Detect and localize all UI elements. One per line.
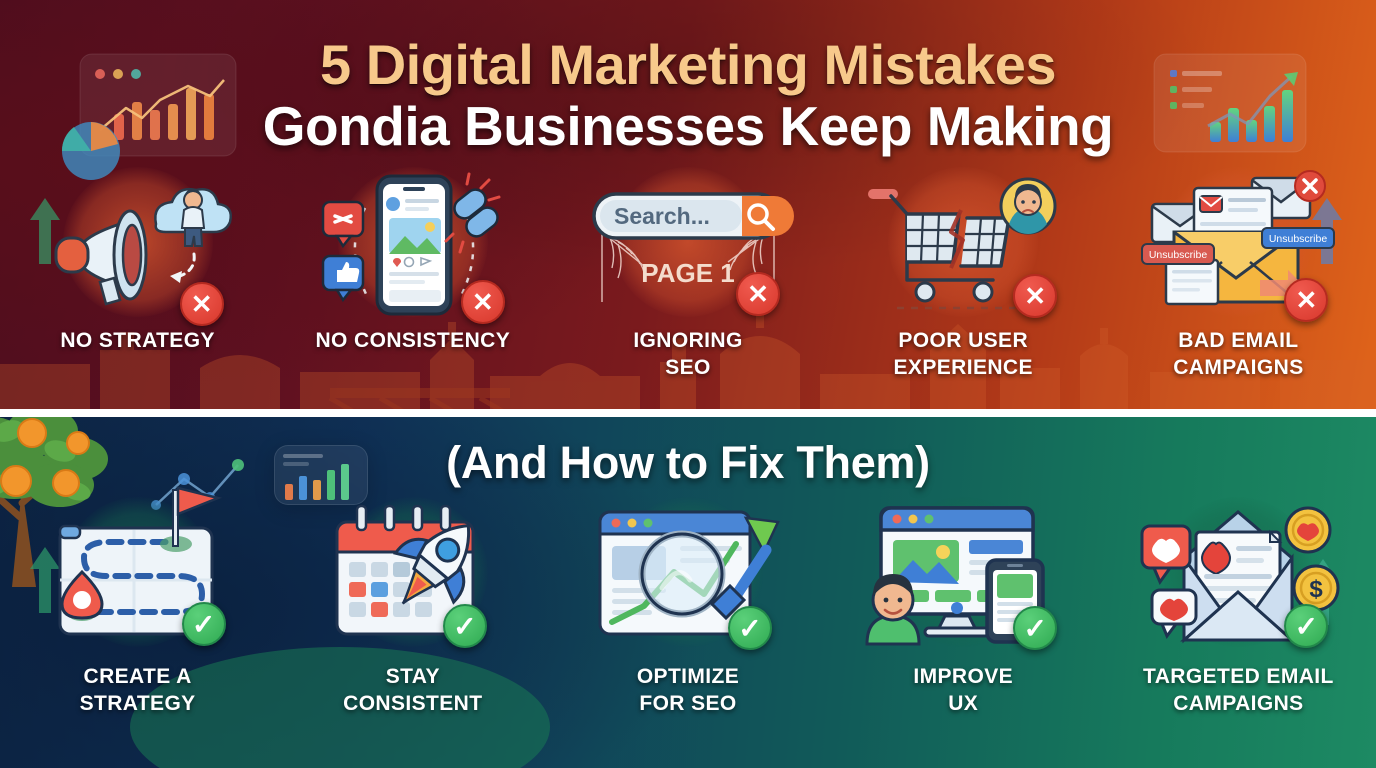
responsive-devices-icon: ✓ xyxy=(863,500,1063,650)
fix-label: OPTIMIZEFOR SEO xyxy=(637,664,739,718)
mistake-item-no-strategy[interactable]: ✕ NO STRATEGY xyxy=(0,170,275,400)
search-bar-icon: Search... PAGE 1 ✕ xyxy=(588,170,788,320)
fix-item-stay-consistent[interactable]: ✓ STAYCONSISTENT xyxy=(275,500,550,750)
mistake-label: NO STRATEGY xyxy=(60,328,215,355)
dollar-glyph: $ xyxy=(1310,576,1324,603)
section-divider xyxy=(0,409,1376,417)
fix-item-targeted-email-campaigns[interactable]: $ ✓ TARGETED EMAILCAMPAIGNS xyxy=(1101,500,1376,750)
page-title-line1: 5 Digital Marketing Mistakes xyxy=(0,36,1376,94)
mistake-item-poor-user-experience[interactable]: ✕ POOR USEREXPERIENCE xyxy=(826,170,1101,400)
roadmap-flag-icon: ✓ xyxy=(38,500,238,650)
check-badge: ✓ xyxy=(728,606,772,650)
mistake-item-bad-email-campaigns[interactable]: Unsubscribe Unsubscribe ✕ BAD EMAILCAMPA… xyxy=(1101,170,1376,400)
broken-cart-icon: ✕ xyxy=(863,170,1063,320)
page-one-text: PAGE 1 xyxy=(641,258,734,288)
megaphone-icon: ✕ xyxy=(38,170,238,320)
magnifier-growth-icon: ✓ xyxy=(588,500,788,650)
fix-label: STAYCONSISTENT xyxy=(343,664,482,718)
smartphone-post-icon: ✕ xyxy=(313,170,513,320)
page-title-line2: Gondia Businesses Keep Making xyxy=(0,96,1376,158)
infographic-poster: ✕ NO STRATEGY xyxy=(0,0,1376,768)
mistakes-panel: ✕ NO STRATEGY xyxy=(0,0,1376,412)
mistake-item-ignoring-seo[interactable]: Search... PAGE 1 ✕ IGNORINGSEO xyxy=(550,170,825,400)
mistake-label: NO CONSISTENCY xyxy=(315,328,510,355)
unsubscribe-red-text: Unsubscribe xyxy=(1149,249,1208,261)
calendar-rocket-icon: ✓ xyxy=(313,500,513,650)
search-placeholder-text: Search... xyxy=(614,203,710,229)
fix-label: TARGETED EMAILCAMPAIGNS xyxy=(1143,664,1334,718)
check-badge: ✓ xyxy=(443,604,487,648)
mistake-label: BAD EMAILCAMPAIGNS xyxy=(1173,328,1303,382)
x-badge: ✕ xyxy=(461,280,505,324)
unsubscribe-blue-text: Unsubscribe xyxy=(1269,233,1328,245)
unsubscribe-red-badge: Unsubscribe xyxy=(1142,244,1214,264)
fix-item-create-a-strategy[interactable]: ✓ CREATE ASTRATEGY xyxy=(0,500,275,750)
check-badge: ✓ xyxy=(1013,606,1057,650)
mistake-label: IGNORINGSEO xyxy=(633,328,742,382)
mistake-item-no-consistency[interactable]: ✕ NO CONSISTENCY xyxy=(275,170,550,400)
unsubscribe-blue-badge: Unsubscribe xyxy=(1262,228,1334,248)
x-badge: ✕ xyxy=(180,282,224,326)
page-subtitle: (And How to Fix Them) xyxy=(0,437,1376,489)
check-badge: ✓ xyxy=(182,602,226,646)
x-badge: ✕ xyxy=(1013,274,1057,318)
title-block: 5 Digital Marketing Mistakes Gondia Busi… xyxy=(0,36,1376,158)
x-badge: ✕ xyxy=(736,272,780,316)
subtitle-block: (And How to Fix Them) xyxy=(0,437,1376,489)
mistakes-row: ✕ NO STRATEGY xyxy=(0,170,1376,400)
fix-item-optimize-for-seo[interactable]: ✓ OPTIMIZEFOR SEO xyxy=(550,500,825,750)
fix-item-improve-ux[interactable]: ✓ IMPROVEUX xyxy=(826,500,1101,750)
open-envelope-hearts-icon: $ ✓ xyxy=(1138,500,1338,650)
fix-label: IMPROVEUX xyxy=(913,664,1013,718)
fix-label: CREATE ASTRATEGY xyxy=(80,664,196,718)
email-stack-icon: Unsubscribe Unsubscribe ✕ xyxy=(1138,170,1338,320)
mistake-label: POOR USEREXPERIENCE xyxy=(894,328,1033,382)
fixes-row: ✓ CREATE ASTRATEGY xyxy=(0,500,1376,750)
